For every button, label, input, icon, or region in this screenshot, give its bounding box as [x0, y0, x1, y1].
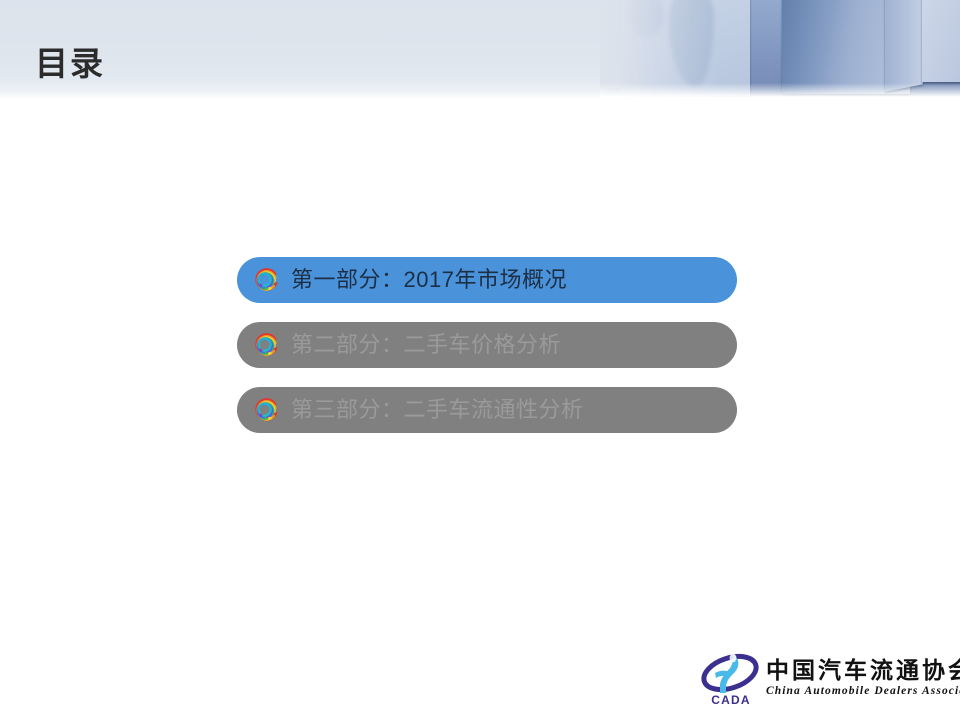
presentation-slide: 目录 第一部分：2017年市场概况 [0, 0, 960, 720]
toc-item-label: 第二部分：二手车价格分析 [291, 322, 561, 368]
toc-item-part-3[interactable]: 第三部分：二手车流通性分析 [237, 387, 737, 433]
cada-logo: CADA 中国汽车流通协会 China Automobile Dealers A… [700, 646, 952, 710]
rainbow-swirl-icon [251, 395, 281, 425]
cubes-decoration-image [600, 0, 960, 99]
toc-item-part-2[interactable]: 第二部分：二手车价格分析 [237, 322, 737, 368]
cube-shape [885, 0, 923, 92]
cada-logo-text: 中国汽车流通协会 China Automobile Dealers Associ… [766, 657, 960, 699]
cada-emblem-icon: CADA [700, 649, 762, 707]
cube-shape [922, 0, 960, 82]
toc-item-part-1[interactable]: 第一部分：2017年市场概况 [237, 257, 737, 303]
rainbow-swirl-icon [251, 265, 281, 295]
cube-bottom-fade [600, 83, 960, 99]
cada-name-en: China Automobile Dealers Association [766, 684, 960, 699]
page-title: 目录 [35, 44, 105, 84]
toc-item-label: 第一部分：2017年市场概况 [291, 257, 567, 303]
table-of-contents: 第一部分：2017年市场概况 第二部分：二手车价格分析 [237, 257, 737, 452]
toc-item-label: 第三部分：二手车流通性分析 [291, 387, 584, 433]
cada-abbr-text: CADA [711, 693, 750, 707]
slide-header-band [0, 0, 960, 99]
cada-name-cn: 中国汽车流通协会 [766, 657, 960, 684]
rainbow-swirl-icon [251, 330, 281, 360]
